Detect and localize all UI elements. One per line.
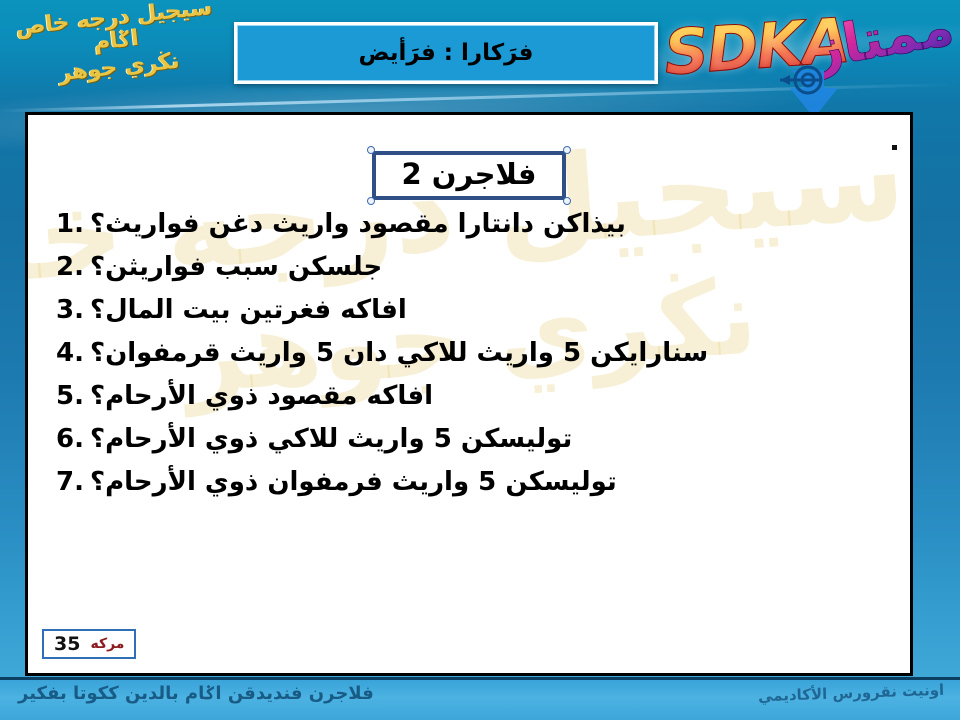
header-title-text: فرَكارا : فرَأيض	[359, 40, 534, 66]
question-text: افاكه فغرتين بيت المال؟	[90, 297, 407, 324]
list-item: 4. سنارايكن 5 واريث للاكي دان 5 واريث قر…	[42, 340, 896, 367]
stray-period-mark	[892, 145, 897, 150]
footer-strip: فلاجرن فنديدقن اݢام بالدين ككوتا بفكير ا…	[0, 677, 960, 720]
list-item: 5. افاكه مقصود ذوي الأرحام؟	[42, 383, 896, 410]
question-number: 3.	[56, 297, 90, 324]
question-text: توليسكن 5 واريث فرمفوان ذوي الأرحام؟	[90, 469, 617, 496]
content-panel: سيجيل درجه خاص اݢام نڬري جوهر فلاجرن 2 1…	[25, 112, 913, 676]
question-text: بيذاكن دانتارا مقصود واريث دغن فواريث؟	[90, 211, 626, 238]
footer-right-text: اونيت نقرورس الأكاديمي	[758, 681, 945, 705]
lesson-title-box[interactable]: فلاجرن 2	[372, 151, 567, 200]
page-number-box: 35 مركه	[42, 629, 136, 659]
question-number: 2.	[56, 254, 90, 281]
question-text: افاكه مقصود ذوي الأرحام؟	[90, 383, 433, 410]
selection-handle-bottom-right[interactable]	[563, 197, 571, 205]
question-text: توليسكن 5 واريث للاكي ذوي الأرحام؟	[90, 426, 572, 453]
question-number: 4.	[56, 340, 90, 367]
list-item: 3. افاكه فغرتين بيت المال؟	[42, 297, 896, 324]
question-number: 6.	[56, 426, 90, 453]
question-number: 5.	[56, 383, 90, 410]
slide-canvas: سيجيل درجه خاص اݢام نڬري جوهر فرَكارا : …	[0, 0, 960, 720]
list-item: 1. بيذاكن دانتارا مقصود واريث دغن فواريث…	[42, 211, 896, 238]
question-number: 1.	[56, 211, 90, 238]
page-number-label: مركه	[90, 636, 124, 652]
question-list: 1. بيذاكن دانتارا مقصود واريث دغن فواريث…	[42, 211, 896, 512]
list-item: 6. توليسكن 5 واريث للاكي ذوي الأرحام؟	[42, 426, 896, 453]
selection-handle-top-right[interactable]	[563, 146, 571, 154]
selection-handle-bottom-left[interactable]	[367, 197, 375, 205]
page-number-value: 35	[54, 633, 80, 655]
question-text: جلسكن سبب فواريثن؟	[90, 254, 382, 281]
list-item: 2. جلسكن سبب فواريثن؟	[42, 254, 896, 281]
sdka-logo: SDKA ممتاز	[656, 2, 956, 122]
list-item: 7. توليسكن 5 واريث فرمفوان ذوي الأرحام؟	[42, 469, 896, 496]
lesson-title-wrap: فلاجرن 2	[28, 151, 910, 200]
header-title-plate-inner: فرَكارا : فرَأيض	[237, 25, 655, 81]
footer-left-text: فلاجرن فنديدقن اݢام بالدين ككوتا بفكير	[18, 683, 374, 704]
header-title-plate: فرَكارا : فرَأيض	[234, 22, 658, 84]
question-number: 7.	[56, 469, 90, 496]
selection-handle-top-left[interactable]	[367, 146, 375, 154]
question-text: سنارايكن 5 واريث للاكي دان 5 واريث قرمفو…	[90, 340, 708, 367]
lesson-title-text: فلاجرن 2	[402, 157, 537, 191]
